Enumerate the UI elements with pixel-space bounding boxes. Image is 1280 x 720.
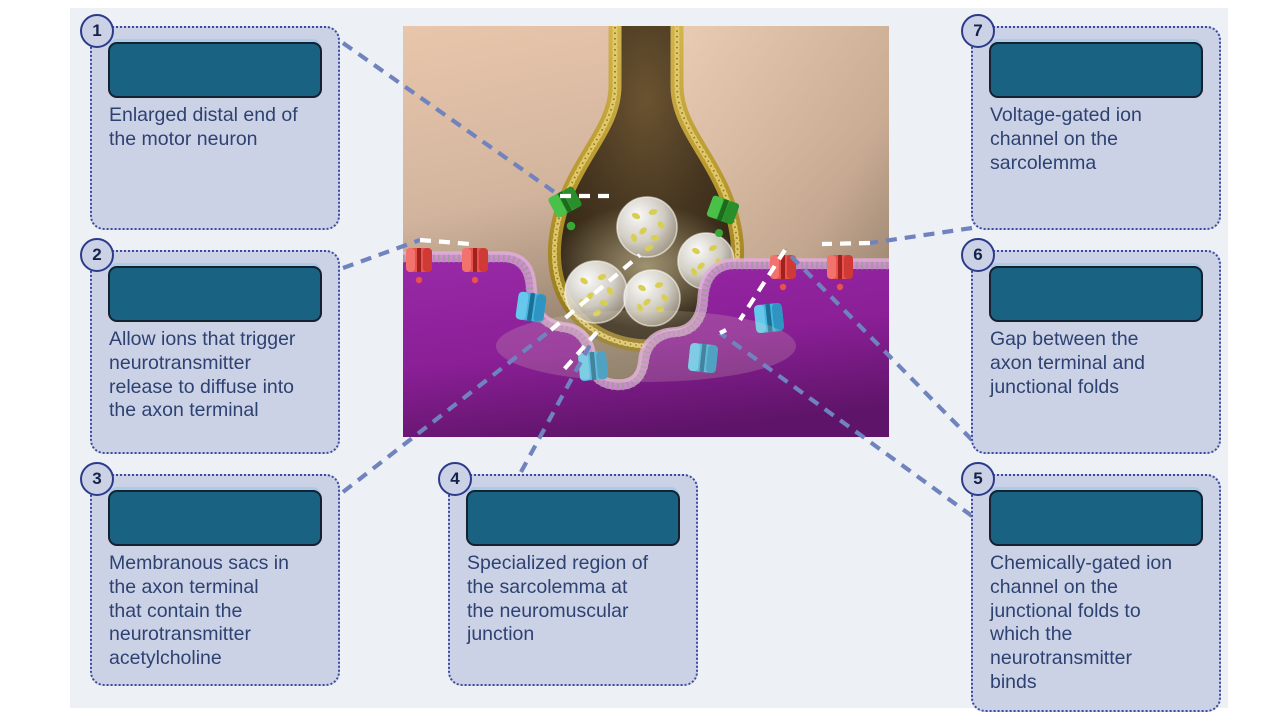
- card-description-7: Voltage-gated ion channel on the sarcole…: [990, 104, 1205, 175]
- card-description-2: Allow ions that trigger neurotransmitter…: [109, 328, 324, 423]
- label-card-4[interactable]: Specialized region of the sarcolemma at …: [448, 474, 698, 686]
- dropzone-5[interactable]: [989, 490, 1203, 546]
- label-card-6[interactable]: Gap between the axon terminal and juncti…: [971, 250, 1221, 454]
- neuromuscular-junction-figure: [403, 26, 889, 437]
- dropzone-6[interactable]: [989, 266, 1203, 322]
- card-badge-2: 2: [80, 238, 114, 272]
- card-badge-6: 6: [961, 238, 995, 272]
- card-badge-3: 3: [80, 462, 114, 496]
- label-card-3[interactable]: Membranous sacs in the axon terminal tha…: [90, 474, 340, 686]
- activity-stage: Enlarged distal end of the motor neuron …: [0, 0, 1280, 720]
- dropzone-3[interactable]: [108, 490, 322, 546]
- card-description-1: Enlarged distal end of the motor neuron: [109, 104, 324, 152]
- dropzone-4[interactable]: [466, 490, 680, 546]
- card-badge-4: 4: [438, 462, 472, 496]
- card-description-6: Gap between the axon terminal and juncti…: [990, 328, 1205, 399]
- card-badge-5: 5: [961, 462, 995, 496]
- card-badge-7: 7: [961, 14, 995, 48]
- label-card-5[interactable]: Chemically-gated ion channel on the junc…: [971, 474, 1221, 712]
- label-card-1[interactable]: Enlarged distal end of the motor neuron: [90, 26, 340, 230]
- dropzone-7[interactable]: [989, 42, 1203, 98]
- label-card-2[interactable]: Allow ions that trigger neurotransmitter…: [90, 250, 340, 454]
- dropzone-2[interactable]: [108, 266, 322, 322]
- card-description-5: Chemically-gated ion channel on the junc…: [990, 552, 1205, 695]
- dropzone-1[interactable]: [108, 42, 322, 98]
- card-badge-1: 1: [80, 14, 114, 48]
- card-description-3: Membranous sacs in the axon terminal tha…: [109, 552, 324, 671]
- card-description-4: Specialized region of the sarcolemma at …: [467, 552, 682, 647]
- label-card-7[interactable]: Voltage-gated ion channel on the sarcole…: [971, 26, 1221, 230]
